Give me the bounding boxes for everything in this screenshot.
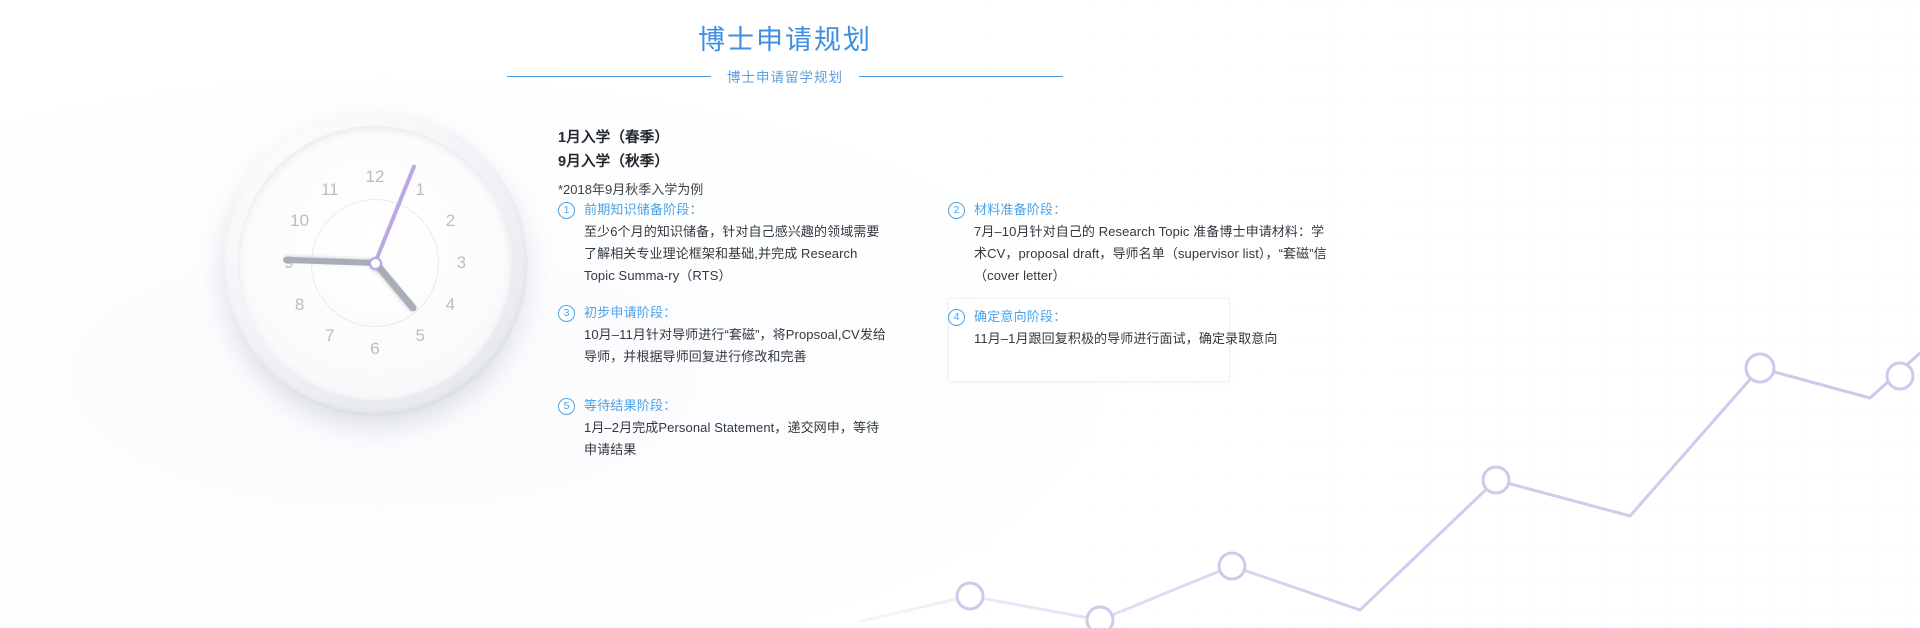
phase-3-number: 3 — [558, 305, 575, 322]
phase-5-head: 5 等待结果阶段： — [558, 396, 888, 416]
clock-numeral-3: 3 — [445, 252, 477, 274]
analog-clock-icon: 12 1 2 3 4 5 6 7 8 9 10 11 — [222, 110, 528, 416]
phase-2-title: 材料准备阶段： — [974, 200, 1066, 220]
phase-1-body: 至少6个月的知识储备，针对自己感兴趣的领域需要了解相关专业理论框架和基础,并完成… — [584, 221, 880, 287]
subtitle-row: 博士申请留学规划 — [0, 66, 1570, 86]
page-header: 博士申请规划 博士申请留学规划 — [0, 22, 1570, 86]
phase-item-3: 3 初步申请阶段： 10月–11月针对导师进行“套磁”，将Propsoal,CV… — [558, 303, 888, 368]
clock-numeral-4: 4 — [434, 294, 466, 316]
intake-autumn: 9月入学（秋季） — [558, 150, 888, 174]
clock-center-cap — [369, 257, 382, 270]
phase-1-head: 1 前期知识储备阶段： — [558, 200, 880, 220]
phase-item-5: 5 等待结果阶段： 1月–2月完成Personal Statement，递交网申… — [558, 396, 888, 461]
intake-block: 1月入学（春季） 9月入学（秋季） *2018年9月秋季入学为例 — [558, 126, 888, 200]
clock-face: 12 1 2 3 4 5 6 7 8 9 10 11 — [238, 126, 512, 400]
clock-numeral-2: 2 — [434, 210, 466, 232]
phase-4-title: 确定意向阶段： — [974, 307, 1066, 327]
page-subtitle: 博士申请留学规划 — [727, 66, 843, 86]
clock-numeral-10: 10 — [284, 210, 316, 232]
phase-2-number: 2 — [948, 202, 965, 219]
phase-3-title: 初步申请阶段： — [584, 303, 676, 323]
phase-5-title: 等待结果阶段： — [584, 396, 676, 416]
divider-left — [507, 76, 711, 77]
phase-2-body: 7月–10月针对自己的 Research Topic 准备博士申请材料：学术CV… — [974, 221, 1328, 287]
phase-1-number: 1 — [558, 202, 575, 219]
phase-item-4: 4 确定意向阶段： 11月–1月跟回复积极的导师进行面试，确定录取意向 — [948, 307, 1278, 350]
phase-2-head: 2 材料准备阶段： — [948, 200, 1328, 220]
phase-1-title: 前期知识储备阶段： — [584, 200, 703, 220]
phase-4-body: 11月–1月跟回复积极的导师进行面试，确定录取意向 — [974, 328, 1278, 350]
clock-numeral-6: 6 — [359, 338, 391, 360]
clock-numeral-5: 5 — [404, 325, 436, 347]
chart-polyline — [860, 344, 1920, 626]
clock-numeral-8: 8 — [284, 294, 316, 316]
intake-note: *2018年9月秋季入学为例 — [558, 180, 888, 200]
phase-4-head: 4 确定意向阶段： — [948, 307, 1278, 327]
phase-5-body: 1月–2月完成Personal Statement，递交网申，等待申请结果 — [584, 417, 888, 461]
page-root: 博士申请规划 博士申请留学规划 12 1 2 3 4 5 6 7 8 9 10 … — [0, 0, 1920, 628]
phase-3-head: 3 初步申请阶段： — [558, 303, 888, 323]
clock-numeral-12: 12 — [359, 166, 391, 188]
clock-numeral-7: 7 — [314, 325, 346, 347]
phase-item-2: 2 材料准备阶段： 7月–10月针对自己的 Research Topic 准备博… — [948, 200, 1328, 287]
clock-numeral-11: 11 — [314, 179, 346, 201]
page-title: 博士申请规划 — [0, 22, 1570, 58]
phase-3-body: 10月–11月针对导师进行“套磁”，将Propsoal,CV发给导师，并根据导师… — [584, 324, 888, 368]
intake-spring: 1月入学（春季） — [558, 126, 888, 150]
phase-5-number: 5 — [558, 398, 575, 415]
chart-nodes — [957, 354, 1913, 628]
divider-right — [859, 76, 1063, 77]
phase-4-number: 4 — [948, 309, 965, 326]
phase-item-1: 1 前期知识储备阶段： 至少6个月的知识储备，针对自己感兴趣的领域需要了解相关专… — [558, 200, 880, 287]
